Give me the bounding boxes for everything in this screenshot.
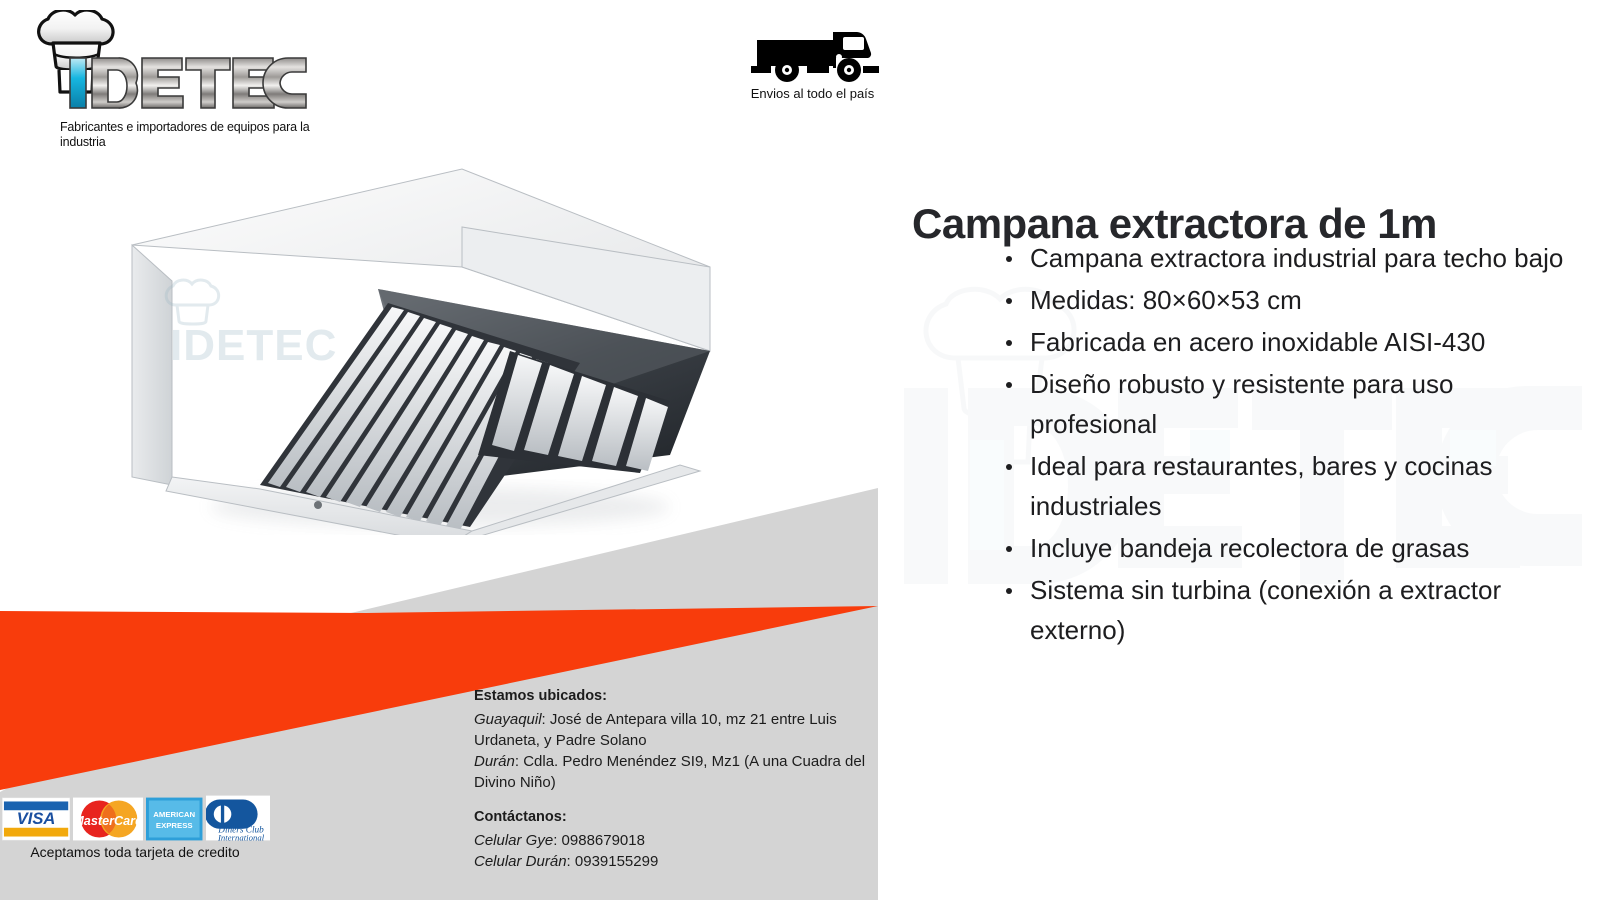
contact-spacer: [474, 793, 874, 809]
diners-club-card-logo: Diners Club International: [206, 795, 270, 841]
logo-wordmark: [68, 52, 308, 114]
contact-block: Estamos ubicados: Guayaquil: José de Ant…: [474, 688, 874, 872]
product-info-panel: Campana extractora de 1m Campana extract…: [890, 160, 1580, 800]
logo-tagline: Fabricantes e importadores de equipos pa…: [60, 120, 310, 149]
payment-note: Aceptamos toda tarjeta de credito: [0, 844, 270, 860]
card-logo-row: VISA MasterCard AMERICAN EXPRESS: [0, 793, 270, 841]
visa-card-logo: VISA: [2, 797, 70, 841]
american-express-card-logo: AMERICAN EXPRESS: [146, 797, 202, 841]
truck-icon: [743, 22, 883, 84]
svg-text:AMERICAN: AMERICAN: [154, 810, 196, 819]
contact-heading: Contáctanos:: [474, 809, 874, 825]
list-item: Ideal para restaurantes, bares y cocinas…: [1000, 446, 1580, 526]
payment-methods: VISA MasterCard AMERICAN EXPRESS: [0, 793, 270, 860]
shipping-label: Envios al todo el país: [730, 86, 895, 101]
product-image: IDETEC: [110, 155, 750, 535]
list-item: Diseño robusto y resistente para uso pro…: [1000, 364, 1580, 444]
phone-number[interactable]: : 0939155299: [567, 853, 659, 870]
phone-label: Celular Gye: [474, 832, 553, 849]
location-address: : Cdla. Pedro Menéndez SI9, Mz1 (A una C…: [474, 753, 865, 791]
product-watermark: IDETEC: [166, 280, 337, 370]
location-city-label: Durán: [474, 753, 515, 770]
shipping-badge: Envios al todo el país: [730, 22, 895, 122]
product-feature-list: Campana extractora industrial para techo…: [1000, 238, 1580, 652]
list-item: Fabricada en acero inoxidable AISI-430: [1000, 322, 1580, 362]
location-entry-duran: Durán: Cdla. Pedro Menéndez SI9, Mz1 (A …: [474, 751, 874, 793]
brand-logo: Fabricantes e importadores de equipos pa…: [20, 8, 310, 148]
location-entry-guayaquil: Guayaquil: José de Antepara villa 10, mz…: [474, 709, 874, 751]
list-item: Sistema sin turbina (conexión a extracto…: [1000, 570, 1580, 650]
phone-gye: Celular Gye: 0988679018: [474, 830, 874, 851]
list-item: Campana extractora industrial para techo…: [1000, 238, 1580, 278]
phone-number[interactable]: : 0988679018: [553, 832, 645, 849]
svg-text:VISA: VISA: [17, 809, 56, 828]
mastercard-card-logo: MasterCard: [73, 797, 143, 841]
list-item: Medidas: 80×60×53 cm: [1000, 280, 1580, 320]
svg-text:EXPRESS: EXPRESS: [156, 821, 193, 830]
svg-text:International: International: [217, 832, 265, 841]
svg-text:IDETEC: IDETEC: [170, 321, 337, 370]
phone-duran: Celular Durán: 0939155299: [474, 851, 874, 872]
location-city-label: Guayaquil: [474, 711, 542, 728]
phone-label: Celular Durán: [474, 853, 567, 870]
list-item: Incluye bandeja recolectora de grasas: [1000, 528, 1580, 568]
product-poster: Fabricantes e importadores de equipos pa…: [0, 0, 1600, 900]
location-heading: Estamos ubicados:: [474, 688, 874, 704]
svg-text:MasterCard: MasterCard: [73, 814, 143, 828]
